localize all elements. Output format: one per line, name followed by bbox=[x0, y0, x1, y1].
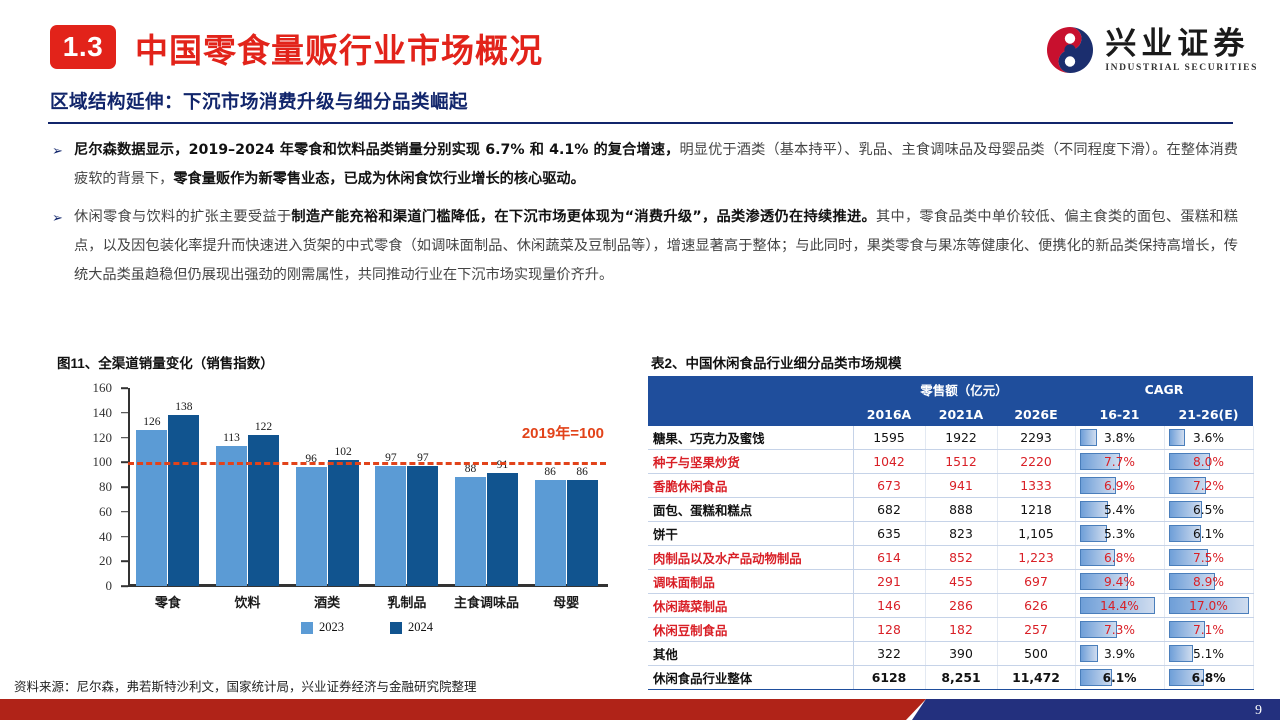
legend-swatch-icon bbox=[390, 622, 402, 634]
table-cell-2026e: 500 bbox=[997, 642, 1075, 666]
chart-y-tickmark bbox=[121, 387, 128, 389]
table-cell-2021a: 941 bbox=[925, 474, 997, 498]
table-cell-cagr-21-26: 3.6% bbox=[1164, 426, 1253, 450]
table-col-2021a: 2021A bbox=[925, 403, 997, 426]
chart-category-label: 酒类 bbox=[314, 592, 340, 611]
databar-wrapper: 14.4% bbox=[1080, 597, 1160, 614]
table-col-cagr-16-21: 16-21 bbox=[1075, 403, 1164, 426]
header-divider bbox=[48, 122, 1233, 124]
databar-value: 7.1% bbox=[1169, 623, 1249, 637]
chart-bar: 86 bbox=[535, 480, 566, 586]
chart-bar: 97 bbox=[407, 466, 438, 586]
table-cell-2026e: 1333 bbox=[997, 474, 1075, 498]
chart-category-label: 饮料 bbox=[234, 592, 260, 611]
chart-y-tick: 100 bbox=[93, 454, 121, 470]
table-cell-2016a: 1042 bbox=[853, 450, 925, 474]
table-col-2016a: 2016A bbox=[853, 403, 925, 426]
databar-wrapper: 6.8% bbox=[1169, 669, 1249, 686]
table-cell-category: 调味面制品 bbox=[648, 570, 853, 594]
table-cell-2016a: 673 bbox=[853, 474, 925, 498]
table-cell-2021a: 8,251 bbox=[925, 666, 997, 690]
table-cell-2016a: 146 bbox=[853, 594, 925, 618]
chart-bar-value-label: 138 bbox=[175, 401, 192, 413]
databar-wrapper: 5.3% bbox=[1080, 525, 1160, 542]
databar-value: 7.3% bbox=[1080, 623, 1160, 637]
table-cell-2026e: 2293 bbox=[997, 426, 1075, 450]
chart-y-tick: 160 bbox=[93, 380, 121, 396]
legend-label: 2024 bbox=[408, 620, 433, 635]
databar-value: 3.9% bbox=[1080, 647, 1160, 661]
databar-value: 6.8% bbox=[1169, 671, 1249, 685]
table-cell-2026e: 1218 bbox=[997, 498, 1075, 522]
table-body: 糖果、巧克力及蜜饯1595192222933.8%3.6%种子与坚果炒货1042… bbox=[648, 426, 1253, 690]
table-cell-category: 饼干 bbox=[648, 522, 853, 546]
databar-wrapper: 17.0% bbox=[1169, 597, 1249, 614]
databar-wrapper: 5.1% bbox=[1169, 645, 1249, 662]
paragraph-2-text: 休闲零食与饮料的扩张主要受益于制造产能充裕和渠道门槛降低，在下沉市场更体现为“消… bbox=[74, 203, 1238, 290]
chart-title: 图11、全渠道销量变化（销售指数） bbox=[57, 352, 274, 372]
table-cell-cagr-16-21: 3.9% bbox=[1075, 642, 1164, 666]
databar-value: 6.1% bbox=[1080, 671, 1160, 685]
databar-wrapper: 7.1% bbox=[1169, 621, 1249, 638]
table-cell-2021a: 1922 bbox=[925, 426, 997, 450]
table-row: 休闲食品行业整体61288,25111,4726.1%6.8% bbox=[648, 666, 1253, 690]
table-cell-cagr-16-21: 7.7% bbox=[1075, 450, 1164, 474]
chart-bar-value-label: 126 bbox=[143, 416, 160, 428]
table-cell-cagr-21-26: 7.2% bbox=[1164, 474, 1253, 498]
databar-value: 6.9% bbox=[1080, 479, 1160, 493]
table-cell-2016a: 291 bbox=[853, 570, 925, 594]
footer-bar: 9 bbox=[0, 699, 1280, 720]
table-cell-category: 香脆休闲食品 bbox=[648, 474, 853, 498]
footer-blue-band bbox=[912, 699, 1280, 720]
table-group-header-cagr: CAGR bbox=[1075, 376, 1253, 403]
chart-bar-value-label: 122 bbox=[255, 421, 272, 433]
databar-wrapper: 7.2% bbox=[1169, 477, 1249, 494]
chart-y-tick: 120 bbox=[93, 430, 121, 446]
databar-value: 5.4% bbox=[1080, 503, 1160, 517]
section-subtitle: 区域结构延伸：下沉市场消费升级与细分品类崛起 bbox=[50, 88, 468, 114]
table-cell-cagr-21-26: 8.9% bbox=[1164, 570, 1253, 594]
legend-label: 2023 bbox=[319, 620, 344, 635]
table-cell-category: 肉制品以及水产品动物制品 bbox=[648, 546, 853, 570]
chart-bar-group: 8686 bbox=[533, 388, 599, 586]
chart-legend: 2023 2024 bbox=[128, 620, 606, 635]
chart-bar: 88 bbox=[455, 477, 486, 586]
table-col-2026e: 2026E bbox=[997, 403, 1075, 426]
table-cell-2016a: 614 bbox=[853, 546, 925, 570]
chart-category-label: 母婴 bbox=[553, 592, 579, 611]
table-cell-2021a: 182 bbox=[925, 618, 997, 642]
table-cell-category: 糖果、巧克力及蜜饯 bbox=[648, 426, 853, 450]
table-cell-cagr-16-21: 14.4% bbox=[1075, 594, 1164, 618]
databar-wrapper: 7.3% bbox=[1080, 621, 1160, 638]
paragraph-2: ➢ 休闲零食与饮料的扩张主要受益于制造产能充裕和渠道门槛降低，在下沉市场更体现为… bbox=[48, 203, 1238, 290]
databar-value: 7.2% bbox=[1169, 479, 1249, 493]
chart-y-axis bbox=[128, 388, 130, 586]
databar-value: 17.0% bbox=[1169, 599, 1249, 613]
table-cell-cagr-21-26: 6.1% bbox=[1164, 522, 1253, 546]
bullet-icon: ➢ bbox=[48, 203, 74, 290]
table-cell-category: 休闲蔬菜制品 bbox=[648, 594, 853, 618]
p2-seg-a: 休闲零食与饮料的扩张主要受益于 bbox=[74, 209, 291, 225]
table-cell-2016a: 128 bbox=[853, 618, 925, 642]
databar-wrapper: 8.9% bbox=[1169, 573, 1249, 590]
table-row: 面包、蛋糕和糕点68288812185.4%6.5% bbox=[648, 498, 1253, 522]
section-number-badge: 1.3 bbox=[50, 25, 116, 69]
legend-swatch-icon bbox=[301, 622, 313, 634]
table-cell-cagr-16-21: 7.3% bbox=[1075, 618, 1164, 642]
table-head: 零售额（亿元） CAGR 2016A 2021A 2026E 16-21 21-… bbox=[648, 376, 1253, 426]
databar-wrapper: 3.9% bbox=[1080, 645, 1160, 662]
databar-wrapper: 7.5% bbox=[1169, 549, 1249, 566]
databar-wrapper: 7.7% bbox=[1080, 453, 1160, 470]
table-row: 肉制品以及水产品动物制品6148521,2236.8%7.5% bbox=[648, 546, 1253, 570]
chart-y-tick: 80 bbox=[99, 479, 120, 495]
databar-value: 9.4% bbox=[1080, 575, 1160, 589]
table-cell-2021a: 286 bbox=[925, 594, 997, 618]
table-row: 香脆休闲食品67394113336.9%7.2% bbox=[648, 474, 1253, 498]
databar-value: 5.3% bbox=[1080, 527, 1160, 541]
databar-value: 7.7% bbox=[1080, 455, 1160, 469]
chart-category-label: 零食 bbox=[155, 592, 181, 611]
chart-category-label: 乳制品 bbox=[387, 592, 426, 611]
table-cell-2026e: 626 bbox=[997, 594, 1075, 618]
table-cell-category: 面包、蛋糕和糕点 bbox=[648, 498, 853, 522]
chart-bar: 138 bbox=[168, 415, 199, 586]
logo-text-en: INDUSTRIAL SECURITIES bbox=[1105, 63, 1258, 73]
table-cell-2016a: 1595 bbox=[853, 426, 925, 450]
table-cell-2021a: 390 bbox=[925, 642, 997, 666]
table-cell-2016a: 6128 bbox=[853, 666, 925, 690]
logo-mark-icon bbox=[1044, 24, 1096, 76]
table-cell-2021a: 888 bbox=[925, 498, 997, 522]
databar-wrapper: 6.1% bbox=[1080, 669, 1160, 686]
chart-bar: 126 bbox=[136, 430, 167, 586]
databar-value: 5.1% bbox=[1169, 647, 1249, 661]
table-cell-category: 种子与坚果炒货 bbox=[648, 450, 853, 474]
databar-wrapper: 6.5% bbox=[1169, 501, 1249, 518]
table-row: 休闲蔬菜制品14628662614.4%17.0% bbox=[648, 594, 1253, 618]
table-cell-cagr-21-26: 6.5% bbox=[1164, 498, 1253, 522]
databar-value: 7.5% bbox=[1169, 551, 1249, 565]
chart-y-tickmark bbox=[121, 412, 128, 414]
company-logo: 兴业证券 INDUSTRIAL SECURITIES bbox=[1044, 24, 1258, 76]
logo-text-cn: 兴业证券 bbox=[1105, 28, 1258, 59]
databar-value: 8.9% bbox=[1169, 575, 1249, 589]
table-cell-2026e: 1,105 bbox=[997, 522, 1075, 546]
databar-value: 6.1% bbox=[1169, 527, 1249, 541]
chart-bar-value-label: 102 bbox=[335, 446, 352, 458]
table-cell-cagr-16-21: 3.8% bbox=[1075, 426, 1164, 450]
table-cell-2021a: 823 bbox=[925, 522, 997, 546]
chart-reference-line bbox=[128, 462, 606, 465]
sales-index-bar-chart: 020406080100120140160 126138113122961029… bbox=[48, 382, 638, 642]
paragraph-1: ➢ 尼尔森数据显示，2019–2024 年零食和饮料品类销量分别实现 6.7% … bbox=[48, 136, 1238, 194]
bullet-icon: ➢ bbox=[48, 136, 74, 194]
legend-item-2024: 2024 bbox=[390, 620, 433, 635]
chart-bar: 102 bbox=[328, 460, 359, 586]
chart-bar-group: 126138 bbox=[135, 388, 201, 586]
table-cell-cagr-16-21: 6.8% bbox=[1075, 546, 1164, 570]
table-title: 表2、中国休闲食品行业细分品类市场规模 bbox=[651, 352, 902, 372]
table-cell-2016a: 322 bbox=[853, 642, 925, 666]
table-cell-2021a: 455 bbox=[925, 570, 997, 594]
chart-y-tickmark bbox=[121, 585, 128, 587]
p2-seg-b: 制造产能充裕和渠道门槛降低，在下沉市场更体现为“消费升级”，品类渗透仍在持续推进… bbox=[291, 209, 876, 225]
chart-bar-value-label: 113 bbox=[223, 432, 240, 444]
databar-wrapper: 6.8% bbox=[1080, 549, 1160, 566]
chart-y-tickmark bbox=[121, 437, 128, 439]
source-note: 资料来源：尼尔森，弗若斯特沙利文，国家统计局，兴业证券经济与金融研究院整理 bbox=[14, 676, 477, 695]
table-corner-cell bbox=[648, 376, 853, 426]
chart-y-tickmark bbox=[121, 486, 128, 488]
table-cell-cagr-16-21: 5.3% bbox=[1075, 522, 1164, 546]
p1-seg-c: 零食量贩作为新零售业态，已成为休闲食饮行业增长的核心驱动。 bbox=[173, 171, 584, 187]
chart-y-tick: 40 bbox=[99, 529, 120, 545]
chart-bar: 97 bbox=[375, 466, 406, 586]
databar-value: 14.4% bbox=[1080, 599, 1160, 613]
table-cell-cagr-21-26: 7.1% bbox=[1164, 618, 1253, 642]
legend-item-2023: 2023 bbox=[301, 620, 344, 635]
table-cell-cagr-16-21: 9.4% bbox=[1075, 570, 1164, 594]
table-cell-cagr-16-21: 5.4% bbox=[1075, 498, 1164, 522]
databar-value: 3.6% bbox=[1169, 431, 1249, 445]
chart-bar-group: 113122 bbox=[215, 388, 281, 586]
chart-bar-value-label: 91 bbox=[497, 459, 509, 471]
databar-wrapper: 8.0% bbox=[1169, 453, 1249, 470]
table-cell-category: 休闲食品行业整体 bbox=[648, 666, 853, 690]
slide-header: 1.3 中国零食量贩行业市场概况 兴业证券 INDUSTRIAL SECURIT… bbox=[0, 0, 1280, 92]
databar-wrapper: 9.4% bbox=[1080, 573, 1160, 590]
databar-wrapper: 3.6% bbox=[1169, 429, 1249, 446]
table-row: 休闲豆制食品1281822577.3%7.1% bbox=[648, 618, 1253, 642]
table-group-header-row: 零售额（亿元） CAGR bbox=[648, 376, 1253, 403]
table-cell-2026e: 697 bbox=[997, 570, 1075, 594]
table-cell-2021a: 852 bbox=[925, 546, 997, 570]
table-cell-cagr-21-26: 17.0% bbox=[1164, 594, 1253, 618]
chart-bar-value-label: 86 bbox=[544, 466, 556, 478]
chart-bar: 86 bbox=[567, 480, 598, 586]
databar-wrapper: 5.4% bbox=[1080, 501, 1160, 518]
chart-y-tick: 140 bbox=[93, 405, 121, 421]
databar-value: 3.8% bbox=[1080, 431, 1160, 445]
chart-y-tickmark bbox=[121, 461, 128, 463]
chart-bar-value-label: 86 bbox=[576, 466, 588, 478]
databar-value: 6.5% bbox=[1169, 503, 1249, 517]
table-cell-2026e: 11,472 bbox=[997, 666, 1075, 690]
chart-reference-label: 2019年=100 bbox=[522, 422, 604, 443]
chart-bar-group: 9797 bbox=[374, 388, 440, 586]
table-row: 饼干6358231,1055.3%6.1% bbox=[648, 522, 1253, 546]
chart-bar-group: 96102 bbox=[294, 388, 360, 586]
table-row: 糖果、巧克力及蜜饯1595192222933.8%3.6% bbox=[648, 426, 1253, 450]
databar-wrapper: 6.1% bbox=[1169, 525, 1249, 542]
table-cell-2021a: 1512 bbox=[925, 450, 997, 474]
page-number: 9 bbox=[1255, 703, 1262, 719]
chart-bar: 113 bbox=[216, 446, 247, 586]
category-market-size-table: 零售额（亿元） CAGR 2016A 2021A 2026E 16-21 21-… bbox=[648, 376, 1253, 690]
table-cell-2026e: 2220 bbox=[997, 450, 1075, 474]
p1-seg-a: 尼尔森数据显示，2019–2024 年零食和饮料品类销量分别实现 6.7% 和 … bbox=[74, 142, 679, 158]
chart-bar-group: 8891 bbox=[454, 388, 520, 586]
table-group-header-retail: 零售额（亿元） bbox=[853, 376, 1075, 403]
table-cell-2016a: 635 bbox=[853, 522, 925, 546]
table-cell-cagr-16-21: 6.9% bbox=[1075, 474, 1164, 498]
chart-y-tick: 20 bbox=[99, 553, 120, 569]
chart-y-tick: 0 bbox=[106, 578, 121, 594]
page-title: 中国零食量贩行业市场概况 bbox=[135, 24, 543, 72]
table-row: 调味面制品2914556979.4%8.9% bbox=[648, 570, 1253, 594]
chart-bar: 91 bbox=[487, 473, 518, 586]
chart-y-tick: 60 bbox=[99, 504, 120, 520]
databar-wrapper: 6.9% bbox=[1080, 477, 1160, 494]
databar-value: 6.8% bbox=[1080, 551, 1160, 565]
databar-wrapper: 3.8% bbox=[1080, 429, 1160, 446]
table-cell-category: 其他 bbox=[648, 642, 853, 666]
table-cell-cagr-21-26: 5.1% bbox=[1164, 642, 1253, 666]
table-cell-cagr-21-26: 7.5% bbox=[1164, 546, 1253, 570]
paragraph-1-text: 尼尔森数据显示，2019–2024 年零食和饮料品类销量分别实现 6.7% 和 … bbox=[74, 136, 1238, 194]
chart-bar: 122 bbox=[248, 435, 279, 586]
chart-bar: 96 bbox=[296, 467, 327, 586]
table-cell-2026e: 257 bbox=[997, 618, 1075, 642]
chart-y-tickmark bbox=[121, 560, 128, 562]
table-cell-2026e: 1,223 bbox=[997, 546, 1075, 570]
table-cell-2016a: 682 bbox=[853, 498, 925, 522]
table-row: 种子与坚果炒货1042151222207.7%8.0% bbox=[648, 450, 1253, 474]
table-cell-cagr-21-26: 6.8% bbox=[1164, 666, 1253, 690]
table-col-cagr-21-26: 21-26(E) bbox=[1164, 403, 1253, 426]
table-cell-cagr-16-21: 6.1% bbox=[1075, 666, 1164, 690]
table-cell-cagr-21-26: 8.0% bbox=[1164, 450, 1253, 474]
chart-y-tickmark bbox=[121, 511, 128, 513]
table-row: 其他3223905003.9%5.1% bbox=[648, 642, 1253, 666]
chart-category-label: 主食调味品 bbox=[454, 592, 519, 611]
table-cell-category: 休闲豆制食品 bbox=[648, 618, 853, 642]
chart-y-tickmark bbox=[121, 536, 128, 538]
databar-value: 8.0% bbox=[1169, 455, 1249, 469]
footer-red-band bbox=[0, 699, 926, 720]
